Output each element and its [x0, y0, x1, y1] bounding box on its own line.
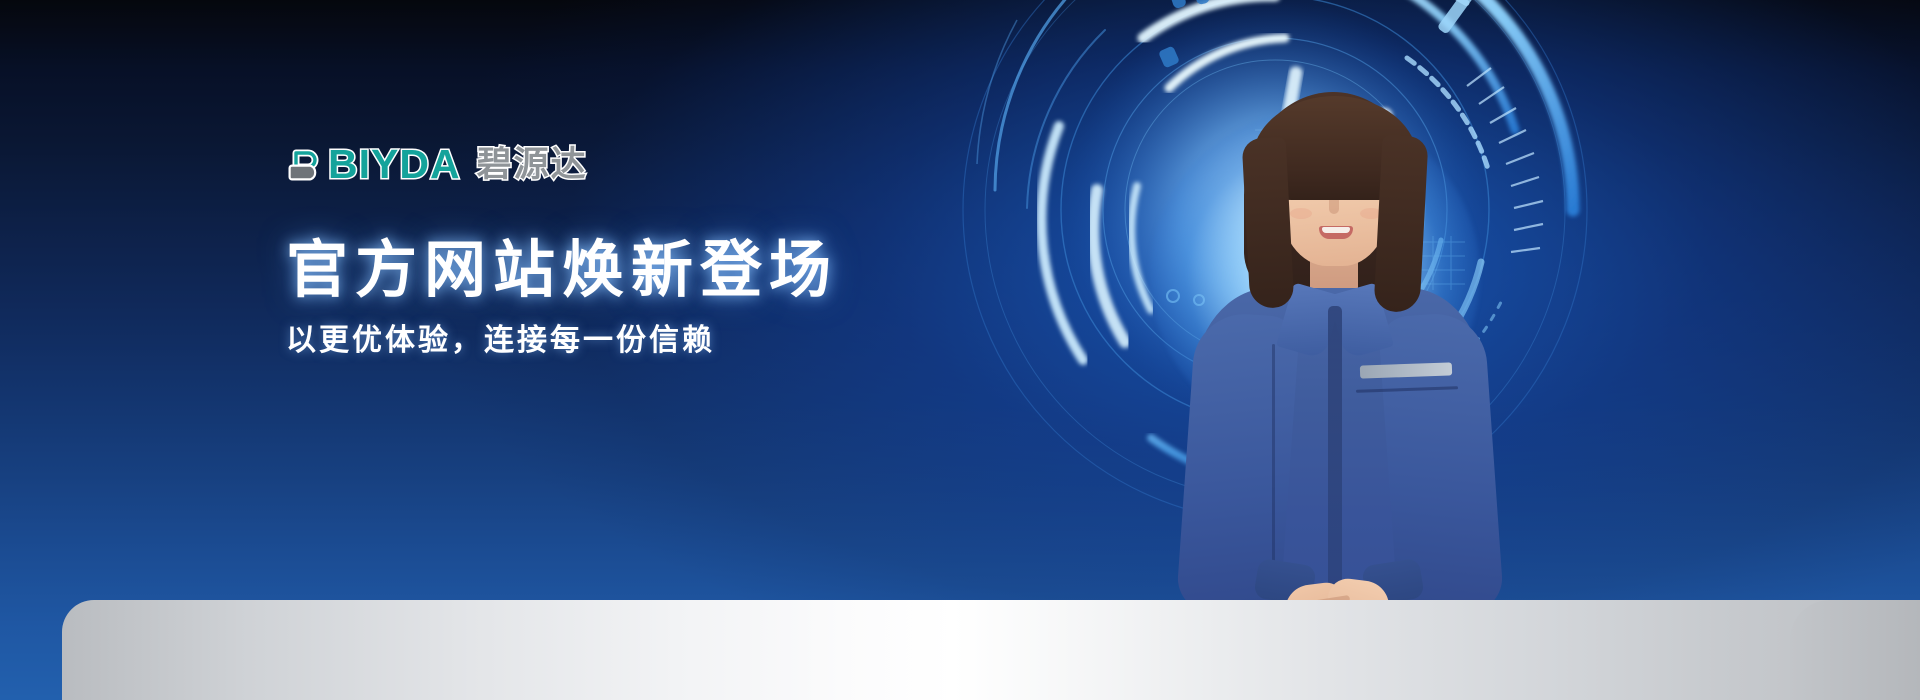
- hair-side-left: [1242, 137, 1295, 309]
- hero-banner: BIYDA 碧源达 官方网站焕新登场 以更优体验，连接每一份信赖: [0, 0, 1920, 700]
- hair-side-right: [1373, 135, 1428, 313]
- brand-logo-latin: BIYDA: [328, 144, 461, 185]
- uniform-seam: [1272, 344, 1275, 568]
- uniform-placket: [1328, 306, 1342, 606]
- panel-right-cap: [1790, 600, 1920, 700]
- teeth-shape: [1322, 227, 1350, 233]
- page-subtitle: 以更优体验，连接每一份信赖: [286, 321, 1046, 360]
- brand-logo-chinese: 碧源达: [477, 147, 588, 182]
- rounded-light-panel-icon: [62, 600, 1920, 700]
- nose-shape: [1329, 198, 1339, 214]
- brand-logo[interactable]: BIYDA 碧源达: [286, 140, 1046, 188]
- cheek-left: [1290, 208, 1312, 219]
- biyda-b-mark-icon: [286, 144, 326, 184]
- page-title: 官方网站焕新登场: [286, 236, 1046, 305]
- hero-copy-block: BIYDA 碧源达 官方网站焕新登场 以更优体验，连接每一份信赖: [286, 140, 1046, 360]
